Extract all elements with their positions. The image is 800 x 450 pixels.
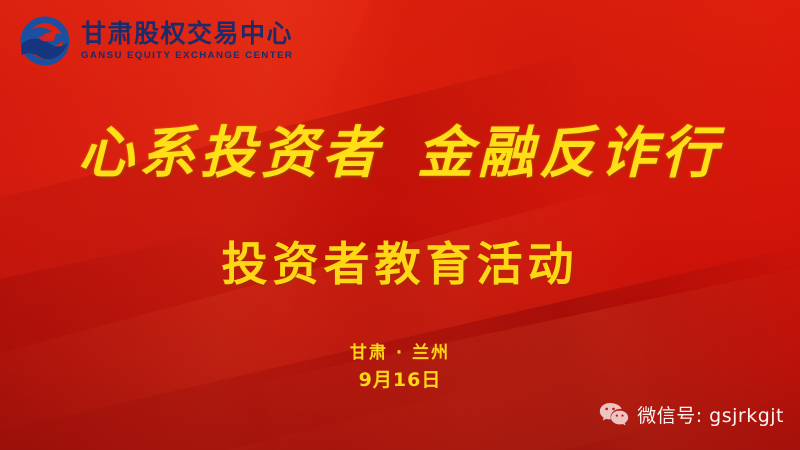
gansu-equity-globe-emblem-icon (18, 14, 72, 68)
headline-part-1: 心系投资者 (78, 120, 383, 186)
wechat-contact: 微信号: gsjrkgjt (599, 401, 784, 428)
poster-subtitle: 投资者教育活动 (0, 228, 800, 294)
logo-text-block: 甘肃股权交易中心 GANSU EQUITY EXCHANGE CENTER (81, 21, 293, 61)
organization-logo: 甘肃股权交易中心 GANSU EQUITY EXCHANGE CENTER (18, 14, 293, 68)
logo-name-en: GANSU EQUITY EXCHANGE CENTER (81, 51, 297, 61)
wechat-id-label: 微信号: gsjrkgjt (637, 401, 784, 428)
poster-headline: 心系投资者金融反诈行 (0, 108, 800, 189)
headline-part-2: 金融反诈行 (417, 120, 722, 186)
event-poster: 甘肃股权交易中心 GANSU EQUITY EXCHANGE CENTER 心系… (0, 0, 800, 450)
logo-name-cn: 甘肃股权交易中心 (81, 21, 293, 46)
event-location: 甘肃 · 兰州 (0, 342, 800, 365)
event-date: 9月16日 (0, 369, 800, 392)
wechat-icon (599, 402, 629, 427)
event-meta: 甘肃 · 兰州 9月16日 (0, 342, 800, 392)
